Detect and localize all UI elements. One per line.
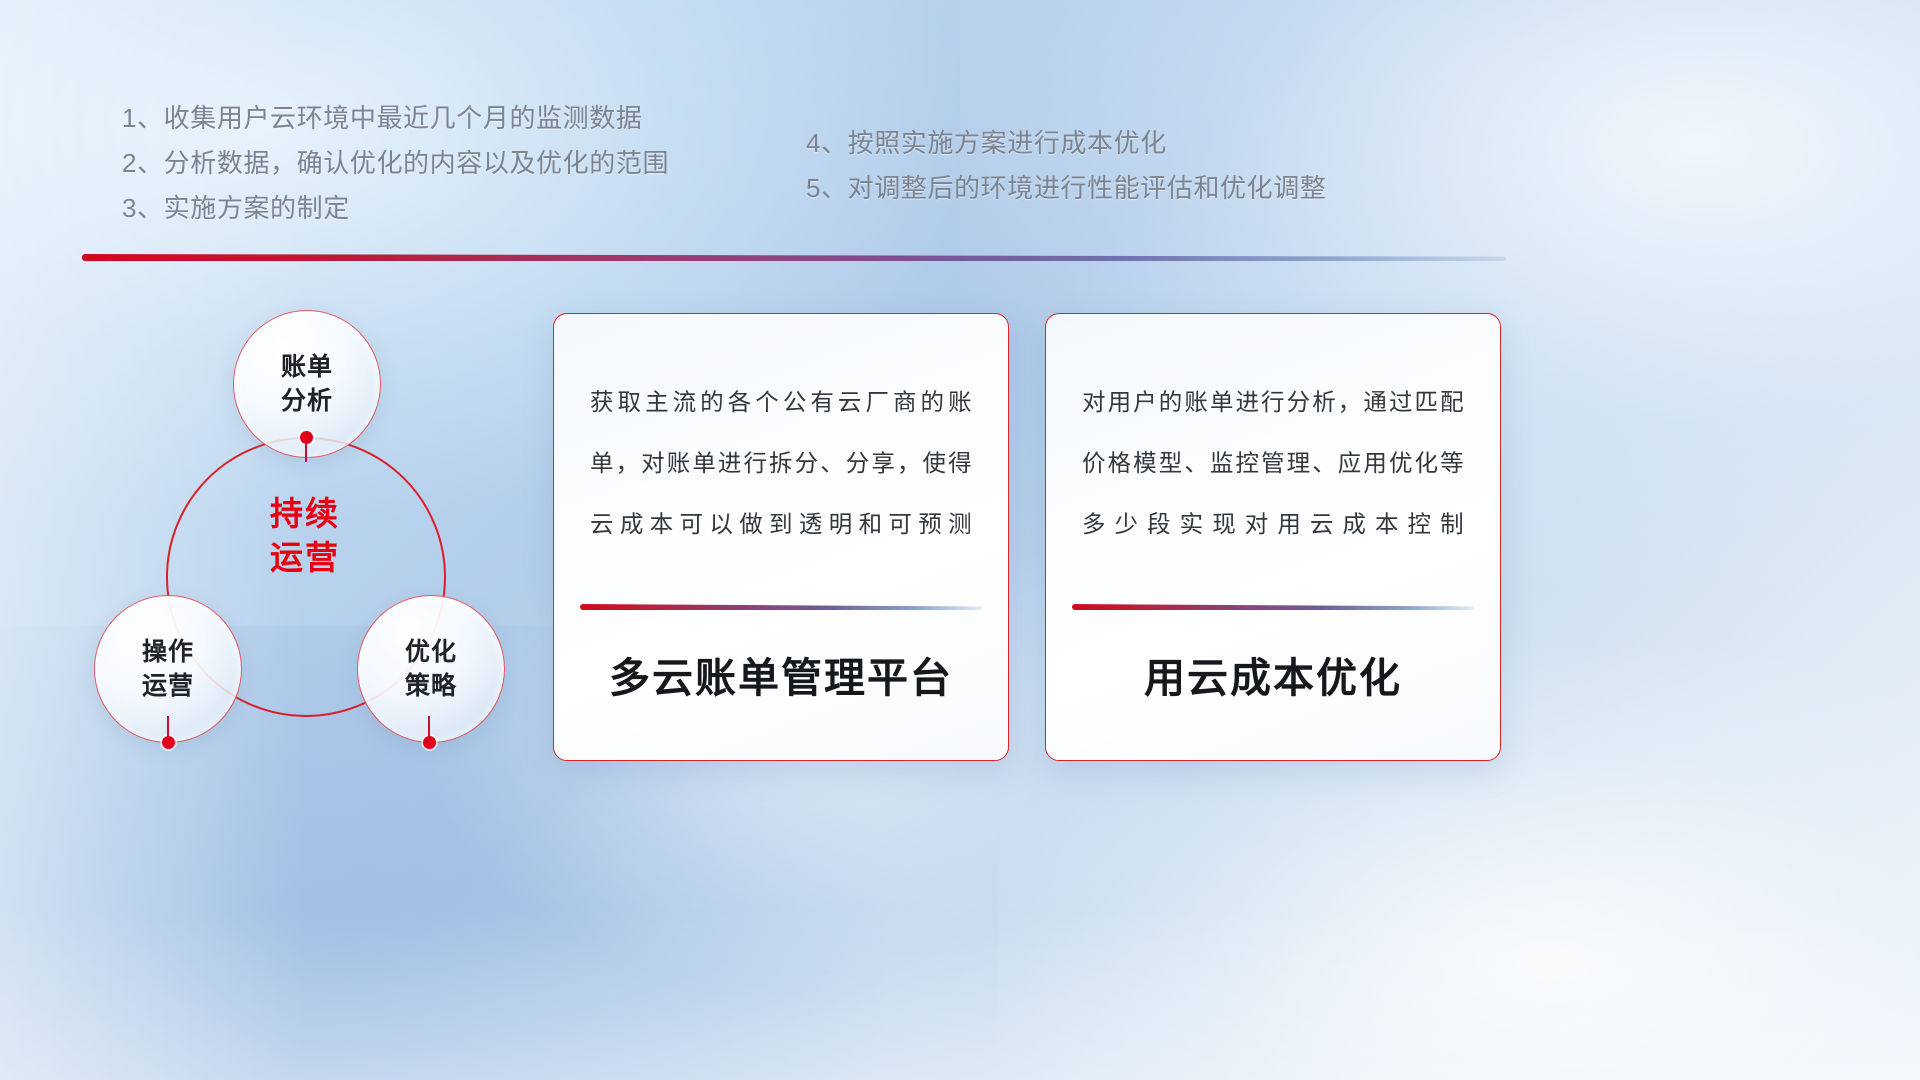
- diagram-center-label: 持续 运营: [85, 492, 525, 580]
- diagram-node-bill-analysis-label: 账单 分析: [281, 350, 333, 418]
- diagram-node-optimization-strategy-line1: 优化: [405, 638, 457, 666]
- diagram-node-optimization-strategy-line2: 策略: [405, 672, 457, 700]
- diagram-node-optimization-strategy-label: 优化 策略: [405, 635, 457, 703]
- steps-left-column: 1、收集用户云环境中最近几个月的监测数据 2、分析数据，确认优化的内容以及优化的…: [122, 96, 669, 231]
- card-2-title: 用云成本优化: [1046, 644, 1500, 704]
- card-1-body-text: 获取主流的各个公有云厂商的账单，对账单进行拆分、分享，使得云成本可以做到透明和可…: [554, 314, 1008, 555]
- diagram-center-label-line1: 持续: [85, 492, 525, 536]
- step-item-1: 1、收集用户云环境中最近几个月的监测数据: [122, 96, 669, 141]
- steps-right-column: 4、按照实施方案进行成本优化 5、对调整后的环境进行性能评估和优化调整: [806, 121, 1326, 211]
- diagram-center-label-line2: 运营: [85, 536, 525, 580]
- continuous-operation-diagram: 持续 运营 账单 分析 操作 运营 优化 策略: [85, 292, 525, 762]
- background-bottom-fade: [0, 907, 1920, 1080]
- step-item-4: 4、按照实施方案进行成本优化: [806, 121, 1326, 166]
- diagram-connector-tick-top: [305, 442, 307, 462]
- card-1-title: 多云账单管理平台: [554, 644, 1008, 704]
- diagram-connector-tick-bottom-right: [428, 716, 430, 738]
- diagram-node-bill-analysis-line2: 分析: [281, 387, 333, 415]
- card-2-divider-rule: [1072, 604, 1474, 610]
- diagram-node-operation-line2: 运营: [142, 672, 194, 700]
- diagram-node-optimization-strategy[interactable]: 优化 策略: [357, 595, 505, 743]
- diagram-node-operation-label: 操作 运营: [142, 635, 194, 703]
- card-multi-cloud-bill-platform[interactable]: 获取主流的各个公有云厂商的账单，对账单进行拆分、分享，使得云成本可以做到透明和可…: [553, 313, 1009, 761]
- diagram-node-bill-analysis-line1: 账单: [281, 353, 333, 381]
- step-item-3: 3、实施方案的制定: [122, 186, 669, 231]
- diagram-connector-tick-bottom-left: [167, 716, 169, 738]
- diagram-node-operation-line1: 操作: [142, 638, 194, 666]
- card-2-body-text: 对用户的账单进行分析，通过匹配价格模型、监控管理、应用优化等多少段实现对用云成本…: [1046, 314, 1500, 555]
- step-item-2: 2、分析数据，确认优化的内容以及优化的范围: [122, 141, 669, 186]
- card-1-divider-rule: [580, 604, 982, 610]
- step-item-5: 5、对调整后的环境进行性能评估和优化调整: [806, 166, 1326, 211]
- card-cloud-cost-optimization[interactable]: 对用户的账单进行分析，通过匹配价格模型、监控管理、应用优化等多少段实现对用云成本…: [1045, 313, 1501, 761]
